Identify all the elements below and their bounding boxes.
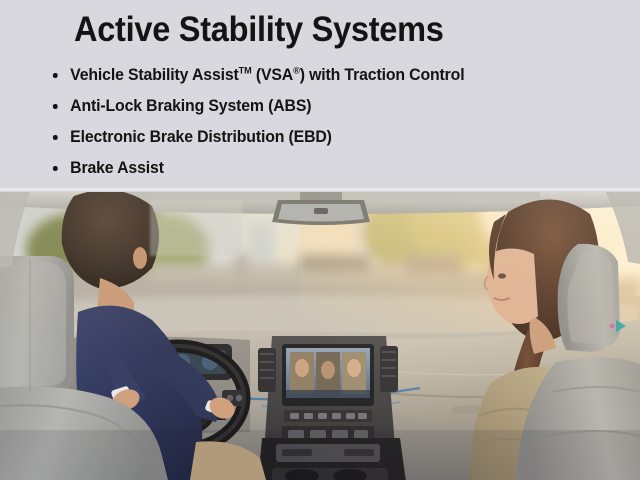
slide-root: Active Stability Systems Vehicle Stabili… [0, 0, 640, 480]
list-item: Vehicle Stability AssistTM (VSA®) with T… [50, 60, 607, 91]
text-panel: Active Stability Systems Vehicle Stabili… [0, 0, 640, 192]
bullet-dot-icon [53, 73, 57, 78]
bullet-dot-icon [53, 135, 57, 140]
bullet-text-3: Brake Assist [70, 159, 164, 177]
vehicle-interior-photo [0, 192, 640, 480]
list-item: Brake Assist [50, 153, 607, 184]
page-title: Active Stability Systems [74, 9, 444, 50]
photo-illustration [0, 192, 640, 480]
bullet-dot-icon [53, 166, 57, 171]
bullet-text-0-mid: (VSA [252, 66, 294, 84]
bullet-text-1: Anti-Lock Braking System (ABS) [70, 97, 311, 115]
list-item: Electronic Brake Distribution (EBD) [50, 122, 607, 153]
bullet-text-0-post: ) with Traction Control [300, 66, 465, 84]
bullet-text-2: Electronic Brake Distribution (EBD) [70, 128, 332, 146]
bullet-dot-icon [53, 104, 57, 109]
feature-bullet-list: Vehicle Stability AssistTM (VSA®) with T… [50, 60, 630, 184]
list-item: Anti-Lock Braking System (ABS) [50, 91, 607, 122]
bullet-text-0-pre: Vehicle Stability Assist [70, 66, 239, 84]
trademark-icon: TM [239, 66, 252, 77]
